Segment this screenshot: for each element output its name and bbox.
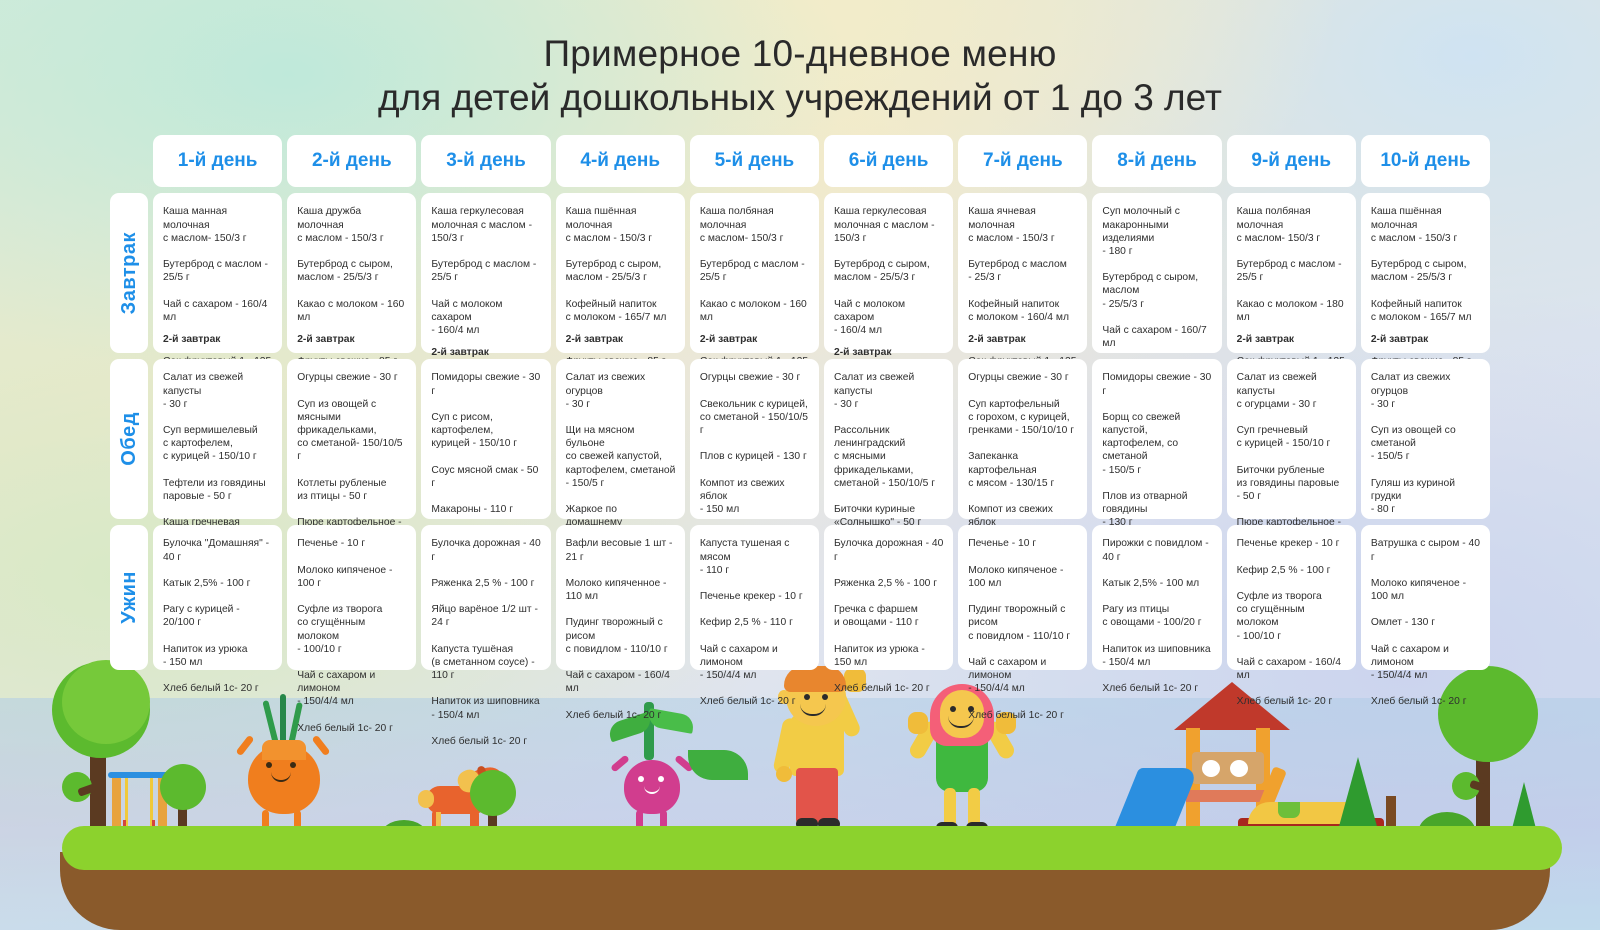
tree-trunk-right	[1476, 744, 1490, 850]
conifer-tree-b	[1506, 782, 1542, 852]
dinner-text-1: Булочка "Домашняя" - 40 г Катык 2,5% - 1…	[163, 537, 273, 695]
swing-seat	[123, 833, 155, 838]
day-header-10[interactable]: 10-й день	[1361, 135, 1490, 187]
second-breakfast-label-2: 2-й завтрак	[297, 333, 407, 346]
row-label-lunch-text: Обед	[118, 412, 141, 466]
lunch-cell-2: Огурцы свежие - 30 г Суп из овощей с мяс…	[287, 359, 416, 519]
breakfast-main-7: Каша ячневая молочная с маслом - 150/3 г…	[968, 205, 1078, 324]
breakfast-cell-1: Каша манная молочная с маслом- 150/3 г Б…	[153, 193, 282, 353]
dinner-cell-7: Печенье - 10 г Молоко кипяченое - 100 мл…	[958, 525, 1087, 670]
dinner-cell-6: Булочка дорожная - 40 г Ряженка 2,5 % - …	[824, 525, 953, 670]
title-line-1: Примерное 10-дневное меню	[0, 30, 1600, 77]
breakfast-row: Завтрак Каша манная молочная с маслом- 1…	[110, 193, 1490, 353]
dinner-text-5: Капуста тушеная с мясом - 110 г Печенье …	[700, 537, 810, 708]
breakfast-cell-7: Каша ячневая молочная с маслом - 150/3 г…	[958, 193, 1087, 353]
dinner-text-6: Булочка дорожная - 40 г Ряженка 2,5 % - …	[834, 537, 944, 695]
dinner-cell-1: Булочка "Домашняя" - 40 г Катык 2,5% - 1…	[153, 525, 282, 670]
breakfast-main-2: Каша дружба молочная с маслом - 150/3 г …	[297, 205, 407, 324]
tree-branch-leaf-left	[62, 772, 92, 802]
breakfast-cell-3: Каша геркулесовая молочная с маслом - 15…	[421, 193, 550, 353]
dinner-text-3: Булочка дорожная - 40 г Ряженка 2,5 % - …	[431, 537, 541, 748]
dinner-text-9: Печенье крекер - 10 г Кефир 2,5 % - 100 …	[1237, 537, 1347, 708]
tree-crown-mid	[470, 770, 516, 816]
tree-branch-left	[77, 783, 97, 797]
page-title: Примерное 10-дневное меню для детей дошк…	[0, 0, 1600, 119]
breakfast-cell-6: Каша геркулесовая молочная с маслом - 15…	[824, 193, 953, 353]
day-header-5[interactable]: 5-й день	[690, 135, 819, 187]
breakfast-main-3: Каша геркулесовая молочная с маслом - 15…	[431, 205, 541, 337]
tree-crown-left-b	[62, 660, 150, 744]
title-line-2: для детей дошкольных учреждений от 1 до …	[0, 77, 1600, 119]
row-label-lunch: Обед	[110, 359, 148, 519]
row-label-breakfast-text: Завтрак	[118, 232, 141, 314]
breakfast-main-8: Суп молочный с макаронными изделиями - 1…	[1102, 205, 1212, 350]
breakfast-main-9: Каша полбяная молочная с маслом- 150/3 г…	[1237, 205, 1347, 324]
ground	[60, 852, 1550, 930]
day-header-9[interactable]: 9-й день	[1227, 135, 1356, 187]
dinner-text-10: Ватрушка с сыром - 40 г Молоко кипяченое…	[1371, 537, 1481, 708]
dinner-cell-9: Печенье крекер - 10 г Кефир 2,5 % - 100 …	[1227, 525, 1356, 670]
lunch-row: Обед Салат из свежей капусты - 30 г Суп …	[110, 359, 1490, 519]
lunch-cell-4: Салат из свежих огурцов - 30 г Щи на мяс…	[556, 359, 685, 519]
row-label-breakfast: Завтрак	[110, 193, 148, 353]
breakfast-main-6: Каша геркулесовая молочная с маслом - 15…	[834, 205, 944, 337]
swing-rope-right	[150, 778, 153, 830]
tree-trunk-left	[90, 730, 106, 850]
slide	[1105, 768, 1199, 852]
dinner-cell-5: Капуста тушеная с мясом - 110 г Печенье …	[690, 525, 819, 670]
dinner-text-4: Вафли весовые 1 шт - 21 г Молоко кипячен…	[566, 537, 676, 721]
breakfast-cell-4: Каша пшённая молочная с маслом - 150/3 г…	[556, 193, 685, 353]
breakfast-main-10: Каша пшённая молочная с маслом - 150/3 г…	[1371, 205, 1481, 324]
plant-sprout	[688, 750, 748, 780]
day-header-8[interactable]: 8-й день	[1092, 135, 1221, 187]
tree-crown-left	[52, 662, 150, 758]
lunch-cell-10: Салат из свежих огурцов - 30 г Суп из ов…	[1361, 359, 1490, 519]
row-label-dinner-text: Ужин	[118, 571, 141, 624]
swing-rope-left	[125, 778, 128, 830]
swing-seat-frame	[123, 820, 155, 838]
lunch-cell-3: Помидоры свежие - 30 г Суп с рисом, карт…	[421, 359, 550, 519]
rocking-horse	[408, 762, 516, 852]
dinner-cell-2: Печенье - 10 г Молоко кипяченое - 100 г …	[287, 525, 416, 670]
second-breakfast-label-9: 2-й завтрак	[1237, 333, 1347, 346]
second-breakfast-label-3: 2-й завтрак	[431, 346, 541, 359]
dinner-cell-10: Ватрушка с сыром - 40 г Молоко кипяченое…	[1361, 525, 1490, 670]
lunch-cell-5: Огурцы свежие - 30 г Свекольник с курице…	[690, 359, 819, 519]
breakfast-cell-8: Суп молочный с макаронными изделиями - 1…	[1092, 193, 1221, 353]
row-label-dinner: Ужин	[110, 525, 148, 670]
breakfast-main-1: Каша манная молочная с маслом- 150/3 г Б…	[163, 205, 273, 324]
tree-crown-small-left	[160, 764, 206, 810]
second-breakfast-label-4: 2-й завтрак	[566, 333, 676, 346]
day-header-4[interactable]: 4-й день	[556, 135, 685, 187]
swing-post-right	[158, 772, 167, 854]
breakfast-main-4: Каша пшённая молочная с маслом - 150/3 г…	[566, 205, 676, 324]
menu-table: 1-й день 2-й день 3-й день 4-й день 5-й …	[110, 135, 1490, 670]
day-header-1[interactable]: 1-й день	[153, 135, 282, 187]
swing-top-bar	[108, 772, 172, 778]
dinner-text-8: Пирожки с повидлом - 40 г Катык 2,5% - 1…	[1102, 537, 1212, 695]
second-breakfast-label-1: 2-й завтрак	[163, 333, 273, 346]
tree-branch-right	[1469, 780, 1487, 793]
swing-post-left	[112, 772, 121, 854]
second-breakfast-label-10: 2-й завтрак	[1371, 333, 1481, 346]
beet-character	[602, 702, 698, 852]
dinner-cell-8: Пирожки с повидлом - 40 г Катык 2,5% - 1…	[1092, 525, 1221, 670]
lunch-cell-9: Салат из свежей капусты с огурцами - 30 …	[1227, 359, 1356, 519]
day-header-3[interactable]: 3-й день	[421, 135, 550, 187]
tree-branch-leaf-right	[1452, 772, 1480, 800]
second-breakfast-label-5: 2-й завтрак	[700, 333, 810, 346]
lunch-cell-6: Салат из свежей капусты - 30 г Рассольни…	[824, 359, 953, 519]
sandbox	[1238, 818, 1384, 852]
day-header-6[interactable]: 6-й день	[824, 135, 953, 187]
breakfast-main-5: Каша полбяная молочная с маслом- 150/3 г…	[700, 205, 810, 324]
bush-mid-left	[380, 820, 428, 854]
dinner-text-7: Печенье - 10 г Молоко кипяченое - 100 мл…	[968, 537, 1078, 721]
lunch-cell-7: Огурцы свежие - 30 г Суп картофельный с …	[958, 359, 1087, 519]
dinner-cell-4: Вафли весовые 1 шт - 21 г Молоко кипячен…	[556, 525, 685, 670]
sky-band	[0, 698, 1600, 930]
lunch-cell-8: Помидоры свежие - 30 г Борщ со свежей ка…	[1092, 359, 1221, 519]
tree-trunk-small-left	[178, 798, 187, 850]
grass-strip	[62, 826, 1562, 870]
second-breakfast-label-7: 2-й завтрак	[968, 333, 1078, 346]
day-header-row: 1-й день 2-й день 3-й день 4-й день 5-й …	[110, 135, 1490, 187]
second-breakfast-label-6: 2-й завтрак	[834, 346, 944, 359]
bush-right	[1418, 812, 1476, 854]
dinner-text-2: Печенье - 10 г Молоко кипяченое - 100 г …	[297, 537, 407, 735]
breakfast-cell-2: Каша дружба молочная с маслом - 150/3 г …	[287, 193, 416, 353]
breakfast-cell-9: Каша полбяная молочная с маслом- 150/3 г…	[1227, 193, 1356, 353]
tree-trunk-mid	[488, 802, 497, 850]
lunch-cell-1: Салат из свежей капусты - 30 г Суп верми…	[153, 359, 282, 519]
day-header-2[interactable]: 2-й день	[287, 135, 416, 187]
dinner-row: Ужин Булочка "Домашняя" - 40 г Катык 2,5…	[110, 525, 1490, 670]
breakfast-cell-10: Каша пшённая молочная с маслом - 150/3 г…	[1361, 193, 1490, 353]
header-corner-spacer	[110, 135, 148, 187]
breakfast-cell-5: Каша полбяная молочная с маслом- 150/3 г…	[690, 193, 819, 353]
lunch-text-5: Огурцы свежие - 30 г Свекольник с курице…	[700, 371, 810, 542]
conifer-tree-a	[1332, 757, 1384, 852]
bucket	[1278, 802, 1300, 818]
fence-post	[1386, 796, 1396, 852]
dinner-cell-3: Булочка дорожная - 40 г Ряженка 2,5 % - …	[421, 525, 550, 670]
sand-pile	[1248, 802, 1374, 824]
day-header-7[interactable]: 7-й день	[958, 135, 1087, 187]
